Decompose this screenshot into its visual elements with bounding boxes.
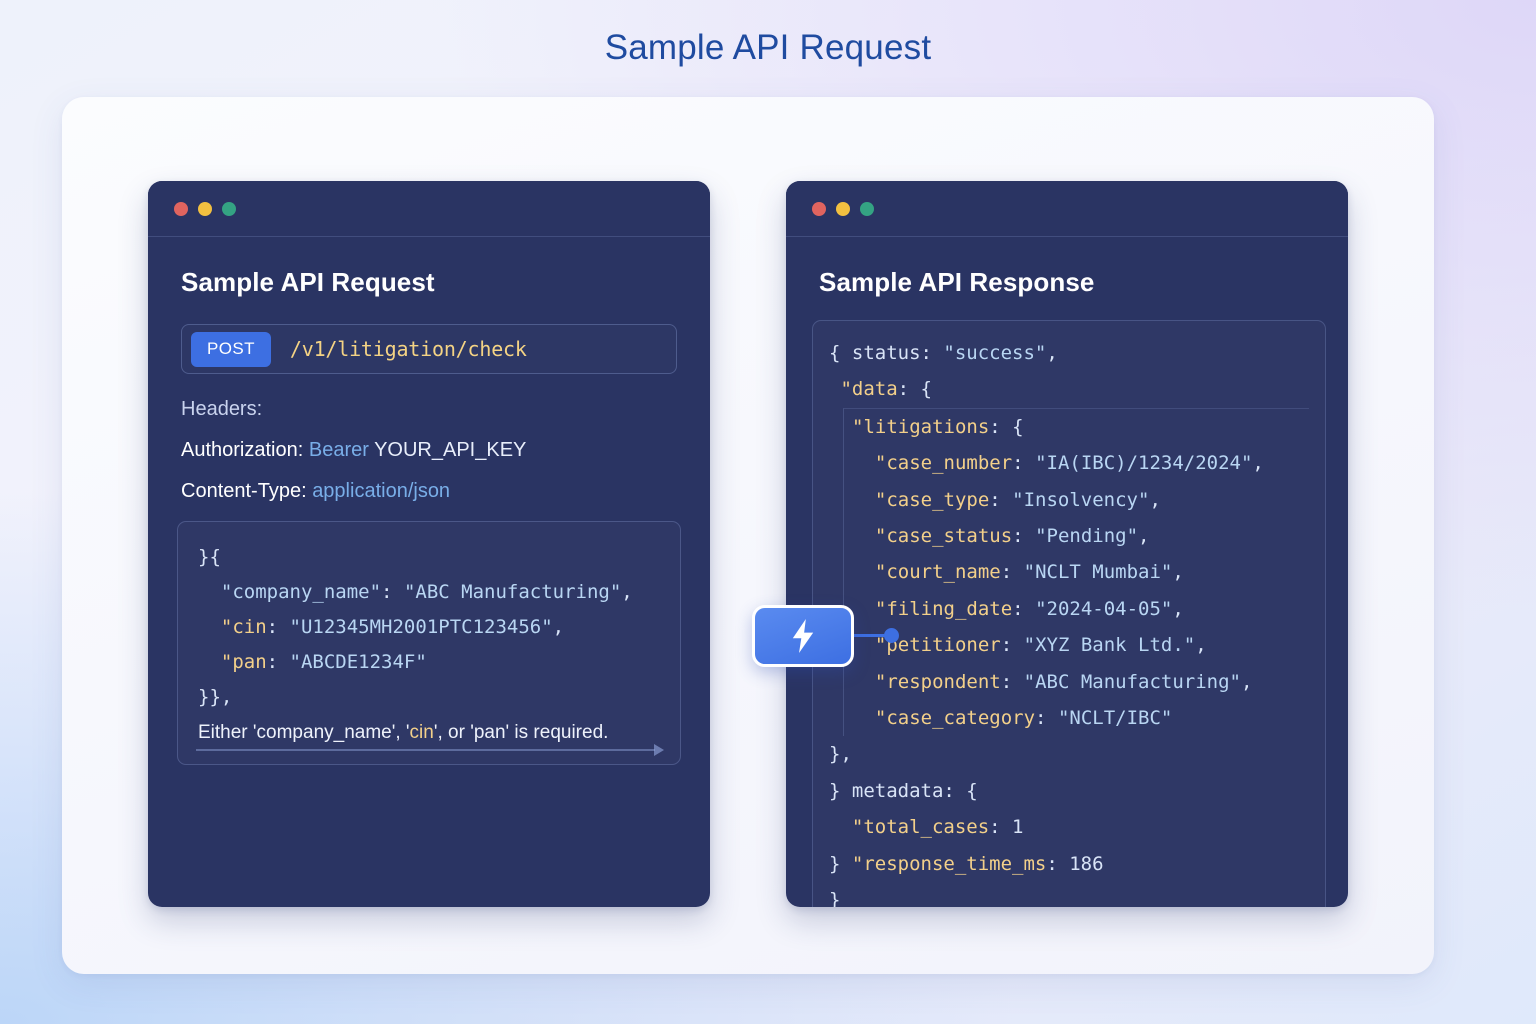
header-authorization-scheme: Bearer [309,439,369,461]
panels-container: Sample API Request POST /v1/litigation/c… [62,97,1434,974]
endpoint-path: /v1/litigation/check [290,337,527,361]
response-line-metadata: } metadata: { [829,780,978,802]
window-close-dot[interactable] [174,202,188,216]
response-line-court-name: "court_name: "NCLT Mumbai", [852,561,1184,583]
response-line-case-category: "case_category: "NCLT/IBC" [852,707,1172,729]
response-line-data: "data: { [829,378,932,400]
note-before: Either 'company_name', ' [198,722,410,743]
method-badge: POST [191,332,271,367]
headers-block: Headers: Authorization: Bearer YOUR_API_… [181,398,677,503]
request-body-line-2: "cin: "U12345MH2001PTC123456", [198,616,564,638]
response-line-case-type: "case_type: "Insolvency", [852,489,1161,511]
note-accent: cin [410,722,434,743]
request-titlebar [148,181,710,237]
request-body-line-0: }{ [198,546,221,568]
response-code-block: { status: "success", "data: { "litigatio… [812,320,1326,907]
request-heading: Sample API Request [148,237,710,298]
response-line-petitioner: "petitioner: "XYZ Bank Ltd.", [852,634,1207,656]
scroll-arrow-head [654,744,664,756]
page-title: Sample API Request [0,0,1536,68]
headers-label: Headers: [181,398,677,421]
response-line-case-status: "case_status: "Pending", [852,525,1149,547]
lightning-bolt-icon [789,619,817,653]
window-close-dot[interactable] [812,202,826,216]
request-url-row[interactable]: POST /v1/litigation/check [181,324,677,374]
scroll-arrow-bar [196,749,655,751]
request-body-code-block: }{ "company_name": "ABC Manufacturing", … [177,521,681,765]
response-line-close-litigations: }, [829,743,852,765]
response-panel: Sample API Response { status: "success",… [786,181,1348,907]
header-content-type-value: application/json [312,480,450,502]
response-heading: Sample API Response [786,237,1348,298]
response-line-total-cases: "total_cases: 1 [829,816,1024,838]
response-litigations-group: "litigations: { "case_number: "IA(IBC)/1… [843,408,1309,737]
connector-dot [884,628,899,643]
window-maximize-dot[interactable] [222,202,236,216]
header-authorization: Authorization: Bearer YOUR_API_KEY [181,439,677,462]
content-card: Sample API Request POST /v1/litigation/c… [62,97,1434,974]
horizontal-scroll-arrow-icon[interactable] [196,744,664,756]
header-authorization-name: Authorization: [181,439,303,461]
request-panel: Sample API Request POST /v1/litigation/c… [148,181,710,907]
note-after: ', or 'pan' is required. [434,722,609,743]
header-content-type: Content-Type: application/json [181,480,677,503]
response-line-litigations: "litigations: { [852,416,1024,438]
header-content-type-name: Content-Type: [181,480,307,502]
window-minimize-dot[interactable] [836,202,850,216]
window-maximize-dot[interactable] [860,202,874,216]
window-minimize-dot[interactable] [198,202,212,216]
header-authorization-token: YOUR_API_KEY [374,439,526,461]
response-line-response-time: } "response_time_ms: 186 [829,853,1104,875]
response-titlebar [786,181,1348,237]
response-line-filing-date: "filing_date: "2024-04-05", [852,598,1184,620]
request-body-line-4: }}, [198,686,232,708]
response-line-case-number: "case_number: "IA(IBC)/1234/2024", [852,452,1264,474]
response-line-status: { status: "success", [829,342,1058,364]
request-body-line-3: "pan: "ABCDE1234F" [198,651,427,673]
request-body-line-1: "company_name": "ABC Manufacturing", [198,581,633,603]
response-line-respondent: "respondent: "ABC Manufacturing", [852,671,1252,693]
lightning-bolt-badge[interactable] [752,605,854,667]
response-line-close-root: } [829,889,840,907]
